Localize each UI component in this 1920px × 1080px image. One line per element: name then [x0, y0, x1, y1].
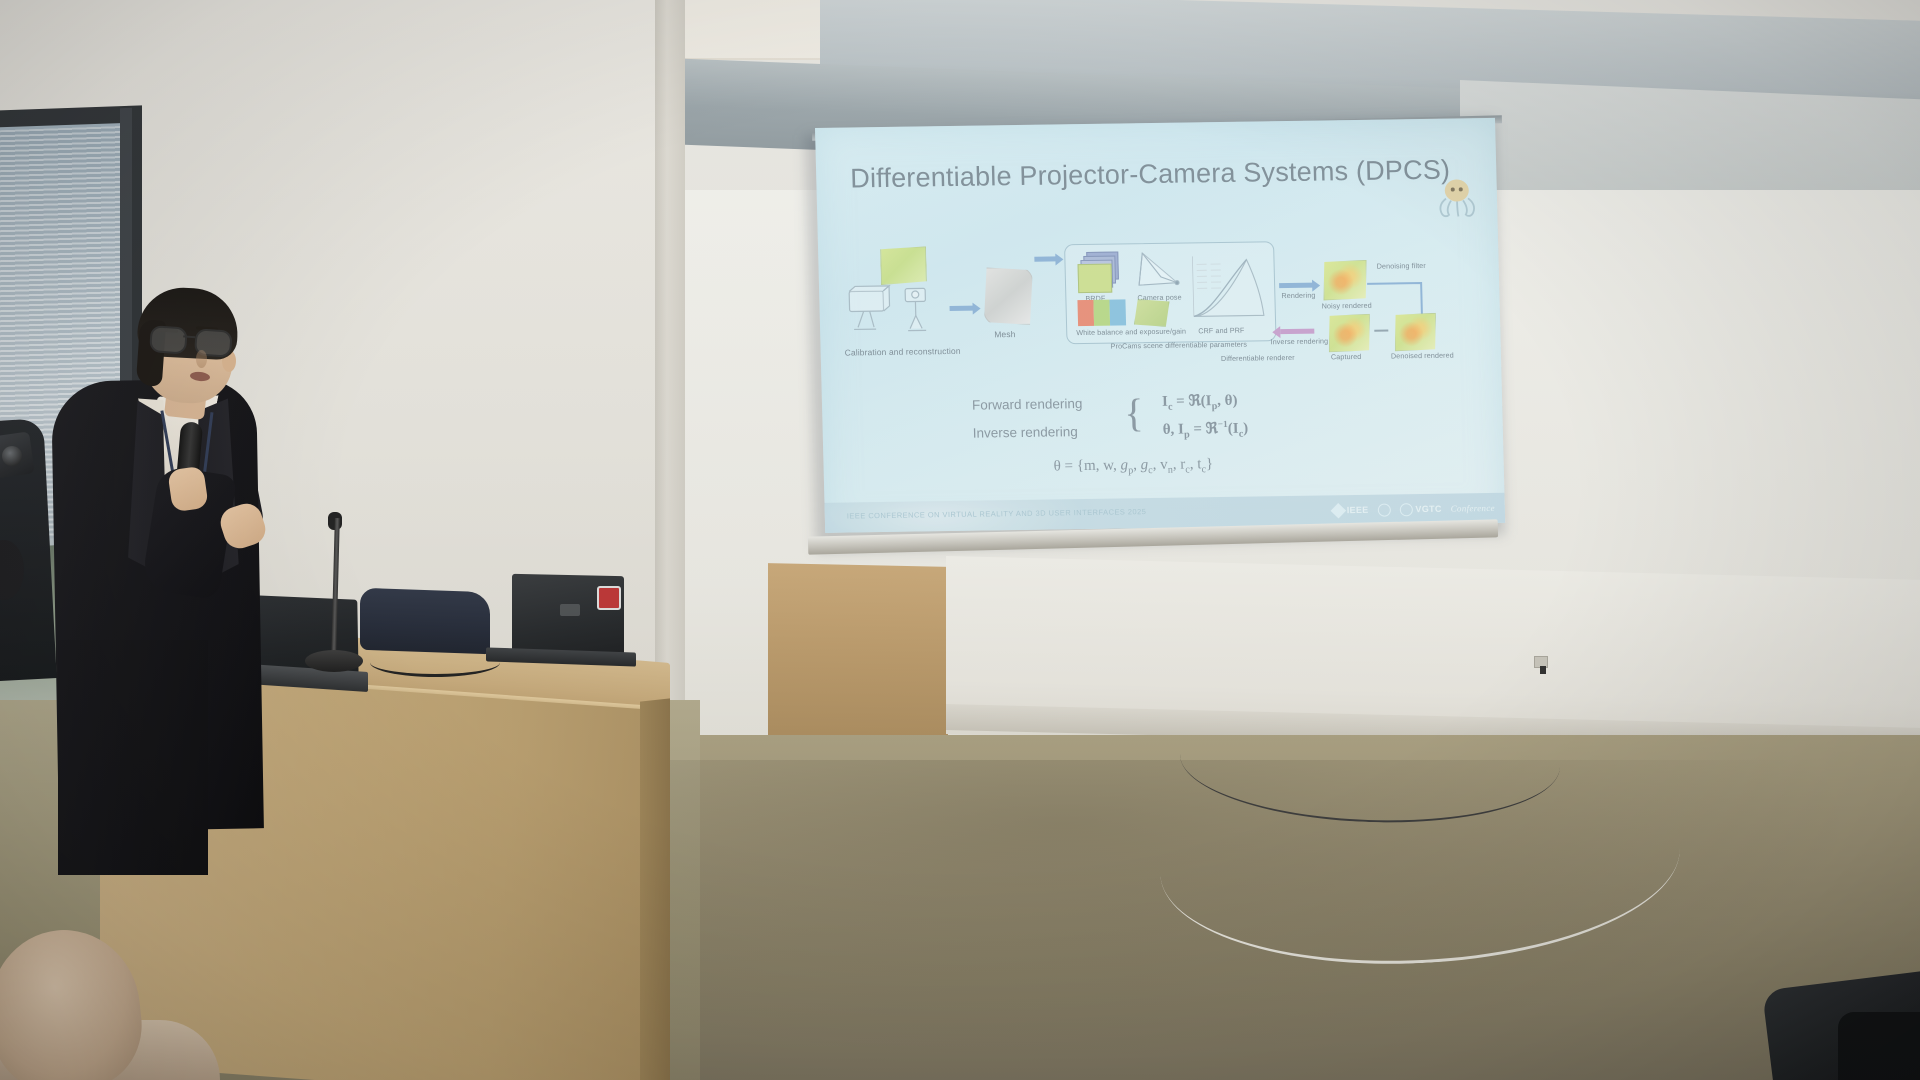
equations-block: { Forward rendering Ic = ℜ(Ip, θ) Invers…	[972, 387, 1393, 449]
desk-microphone-base	[305, 650, 363, 672]
audience-right-bag	[1838, 1012, 1920, 1080]
conference-script-logo: Conference	[1451, 503, 1495, 514]
presenter-lower-body	[58, 640, 208, 875]
laptop-sticker-badge	[597, 586, 621, 610]
brdf-stack	[1076, 251, 1121, 292]
laptop-bag	[360, 588, 490, 655]
captured-image	[1328, 314, 1371, 353]
ieee-logo: IEEE	[1333, 504, 1369, 516]
presenter-nose	[196, 350, 207, 368]
vgtc-logo: VGTC	[1399, 502, 1442, 516]
octopus-logo	[1426, 170, 1488, 231]
forward-rendering-math: Ic = ℜ(Ip, θ)	[1162, 391, 1238, 413]
ieee-computer-society-logo	[1377, 503, 1390, 516]
label-noisy-rendered: Noisy rendered	[1322, 301, 1372, 311]
label-differentiable-renderer: Differentiable renderer	[1221, 353, 1295, 363]
audience-camera-lens	[2, 446, 22, 466]
podium-side-panel	[640, 698, 670, 1080]
label-inverse-rendering-arrow: Inverse rendering	[1270, 336, 1328, 346]
slide-surface: Differentiable Projector-Camera Systems …	[815, 118, 1505, 533]
label-mesh: Mesh	[994, 329, 1015, 339]
outlet-plug	[1540, 666, 1546, 674]
crf-prf-curve	[1184, 249, 1268, 324]
minus-sign	[1374, 330, 1388, 332]
dpcs-pipeline-diagram: Calibration and reconstruction Mesh	[836, 236, 1485, 376]
presenter-eyeglasses	[149, 325, 234, 355]
computer-society-circle-icon	[1377, 503, 1390, 516]
conference-presentation-photo: Differentiable Projector-Camera Systems …	[0, 0, 1920, 1080]
wood-wall-panel	[768, 563, 948, 752]
label-captured: Captured	[1331, 352, 1362, 361]
arrow-to-mesh	[950, 306, 974, 311]
projector-camera-icons	[843, 280, 945, 341]
exposure-gain-plane	[1133, 299, 1170, 328]
ieee-diamond-icon	[1330, 502, 1346, 518]
mesh-surface	[983, 267, 1034, 326]
label-denoising-filter: Denoising filter	[1377, 261, 1426, 271]
denoised-rendered-image	[1394, 313, 1437, 352]
inverse-rendering-math: θ, Ip = ℜ−1(Ic)	[1162, 419, 1248, 441]
projected-flag-image	[880, 246, 927, 285]
eyeglass-lens-left	[149, 325, 188, 355]
camera-pose-frustum	[1132, 249, 1185, 294]
label-denoised-rendered: Denoised rendered	[1391, 351, 1454, 361]
noisy-rendered-image	[1323, 260, 1368, 301]
label-calibration: Calibration and reconstruction	[845, 346, 961, 358]
vgtc-circle-icon	[1399, 503, 1412, 516]
desk-cable	[370, 648, 500, 677]
projection-screen: Differentiable Projector-Camera Systems …	[815, 118, 1505, 533]
label-rendering: Rendering	[1281, 291, 1315, 301]
label-white-balance: White balance and exposure/gain	[1076, 327, 1186, 338]
conference-footer-text: IEEE CONFERENCE ON VIRTUAL REALITY AND 3…	[847, 507, 1147, 520]
slide-title: Differentiable Projector-Camera Systems …	[850, 155, 1451, 195]
arrow-to-procams	[1034, 256, 1056, 261]
white-balance-swatches	[1077, 299, 1126, 326]
laptop-lid-logo	[560, 604, 580, 616]
inverse-rendering-label: Inverse rendering	[973, 424, 1078, 441]
footer-logo-row: IEEE VGTC Conference	[1333, 498, 1496, 520]
theta-definition-math: θ = {m, w, gp, gc, vn, rc, tc}	[1053, 456, 1213, 477]
arrow-inverse-rendering	[1280, 329, 1314, 335]
label-procams-params: ProCams scene differentiable parameters	[1111, 340, 1248, 351]
equation-row-inverse: Inverse rendering θ, Ip = ℜ−1(Ic)	[972, 415, 1393, 449]
label-crf-prf: CRF and PRF	[1198, 326, 1244, 336]
presenter-hand-holding-mic	[167, 466, 208, 513]
arrow-rendering	[1279, 283, 1313, 289]
forward-rendering-label: Forward rendering	[972, 396, 1083, 413]
